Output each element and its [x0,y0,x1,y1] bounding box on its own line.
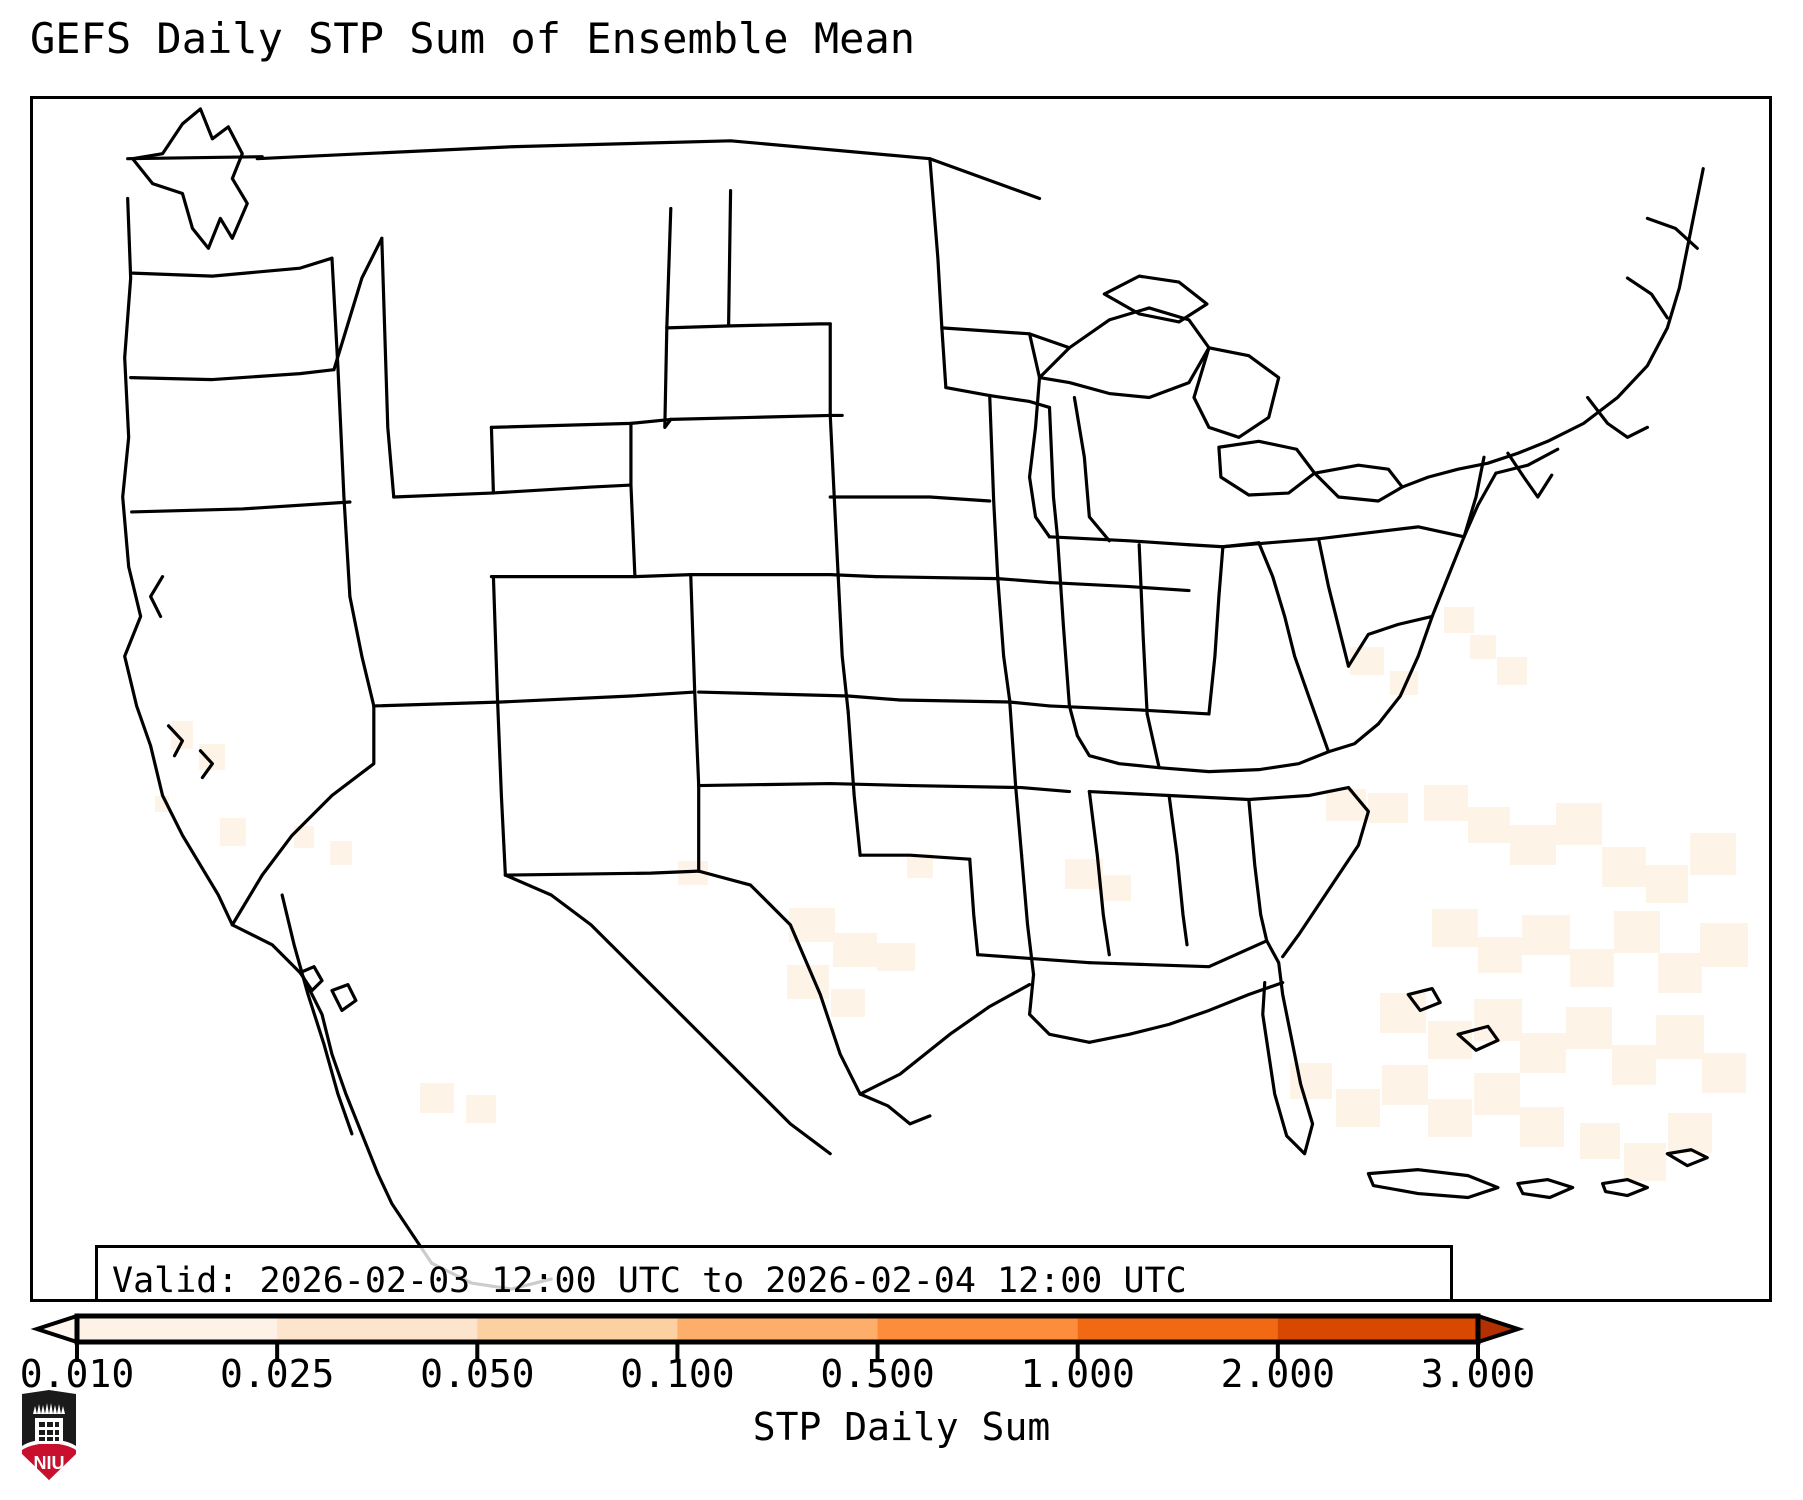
colorbar-band [277,1316,478,1342]
colorbar-band [1278,1316,1479,1342]
colorbar-band [878,1316,1079,1342]
valid-period-text: Valid: 2026-02-03 12:00 UTC to 2026-02-0… [112,1254,1436,1302]
map-geography [33,99,1769,1299]
colorbar-band [677,1316,878,1342]
page-title: GEFS Daily STP Sum of Ensemble Mean [30,14,915,63]
colorbar-tick-label: 3.000 [1421,1352,1535,1396]
colorbar[interactable]: 0.0100.0250.0500.1000.5001.0002.0003.000… [0,1300,1803,1500]
niu-logo: NIU [18,1390,80,1482]
info-box: Valid: 2026-02-03 12:00 UTC to 2026-02-0… [95,1245,1453,1302]
colorbar-tick-label: 0.025 [220,1352,334,1396]
colorbar-extend-high [1478,1316,1518,1342]
colorbar-band [477,1316,678,1342]
colorbar-axis-label: STP Daily Sum [0,1405,1803,1449]
colorbar-tick-label: 1.000 [1021,1352,1135,1396]
colorbar-band [1078,1316,1279,1342]
colorbar-tick-label: 0.100 [620,1352,734,1396]
colorbar-tick-label: 0.500 [820,1352,934,1396]
colorbar-band [77,1316,278,1342]
svg-text:NIU: NIU [34,1453,65,1473]
colorbar-tick-label: 2.000 [1221,1352,1335,1396]
colorbar-tick-label: 0.050 [420,1352,534,1396]
colorbar-extend-low [37,1316,77,1342]
map-panel[interactable]: Valid: 2026-02-03 12:00 UTC to 2026-02-0… [30,96,1772,1302]
